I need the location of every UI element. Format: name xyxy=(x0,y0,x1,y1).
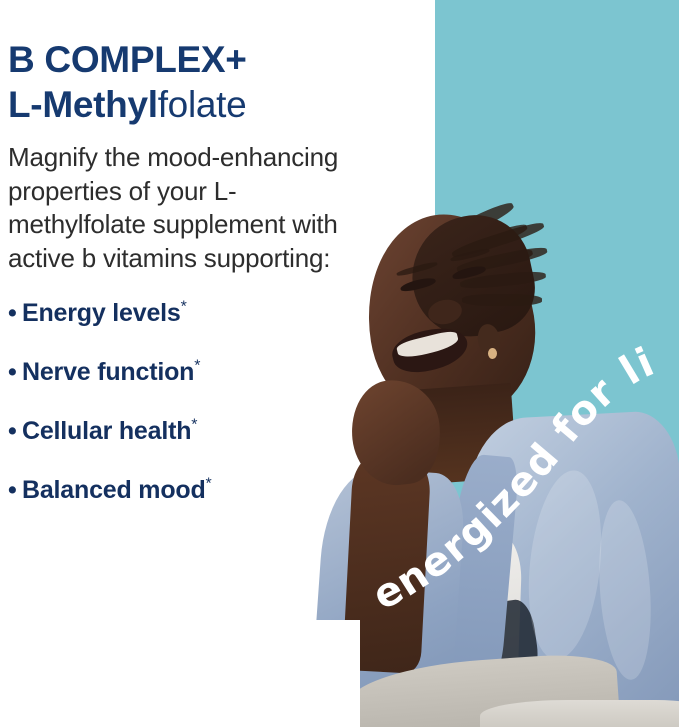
hair-braid xyxy=(462,294,542,306)
footnote-marker: * xyxy=(194,358,200,375)
headline-light-segment: folate xyxy=(158,84,247,125)
bullet-icon: • xyxy=(8,419,22,444)
benefit-label-text: Balanced mood xyxy=(22,476,206,504)
page-title: B COMPLEX+ L-Methylfolate xyxy=(8,0,378,127)
bullet-icon: • xyxy=(8,301,22,326)
benefit-label-text: Cellular health xyxy=(22,417,191,445)
copy-column: B COMPLEX+ L-Methylfolate Magnify the mo… xyxy=(8,0,378,537)
headline-line-2: L-Methylfolate xyxy=(8,82,378,127)
gold-earring xyxy=(488,348,497,359)
bullet-icon: • xyxy=(8,360,22,385)
footnote-marker: * xyxy=(181,299,187,316)
list-item: • Cellular health* xyxy=(8,419,378,478)
headline-line-1: B COMPLEX+ xyxy=(8,37,378,82)
list-item: • Balanced mood* xyxy=(8,478,378,537)
product-graphic: B COMPLEX+ L-Methylfolate Magnify the mo… xyxy=(0,0,679,727)
list-item: • Nerve function* xyxy=(8,360,378,419)
benefit-label: Balanced mood* xyxy=(22,478,212,503)
benefit-label: Cellular health* xyxy=(22,419,197,444)
benefit-label-text: Nerve function xyxy=(22,358,194,386)
benefit-label-text: Energy levels xyxy=(22,299,181,327)
leg-second xyxy=(480,700,679,727)
footnote-marker: * xyxy=(191,417,197,434)
list-item: • Energy levels* xyxy=(8,301,378,360)
headline-bold-segment: L-Methyl xyxy=(8,84,158,125)
description-paragraph: Magnify the mood-enhancing properties of… xyxy=(8,127,353,275)
benefit-label: Nerve function* xyxy=(22,360,200,385)
photo-bottom-mask xyxy=(300,620,360,727)
benefit-label: Energy levels* xyxy=(22,301,187,326)
benefits-list: • Energy levels* • Nerve function* • Cel… xyxy=(8,275,378,537)
bullet-icon: • xyxy=(8,478,22,503)
footnote-marker: * xyxy=(206,476,212,493)
